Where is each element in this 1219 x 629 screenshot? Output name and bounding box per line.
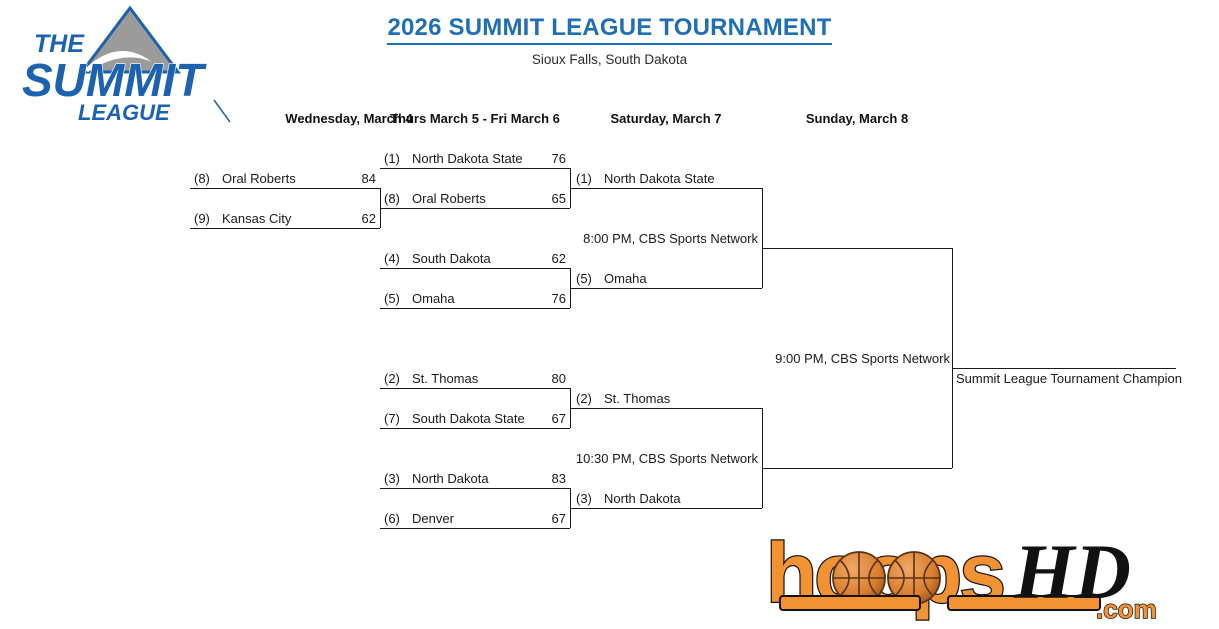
slot-qf2-team2: (5)Omaha: [384, 290, 455, 308]
team-label: Kansas City: [218, 210, 291, 228]
team-label: North Dakota State: [408, 150, 523, 168]
seed-label: (1): [384, 150, 408, 168]
team-label: Oral Roberts: [218, 170, 296, 188]
slot-qf3-team1: (2)St. Thomas: [384, 370, 478, 388]
bracket-line-final-bottom: [762, 468, 952, 469]
page-title: 2026 SUMMIT LEAGUE TOURNAMENT: [0, 14, 1219, 42]
team-label: North Dakota State: [600, 170, 715, 188]
bracket-line-qf4-top: [380, 488, 570, 489]
score-qf3-team2: 67: [520, 410, 566, 428]
round-header-championship: Sunday, March 8: [762, 111, 952, 126]
hoopshd-logo-svg: hoops HD .com: [762, 528, 1182, 624]
team-label: Oral Roberts: [408, 190, 486, 208]
bracket-line-qf1-bottom: [380, 208, 570, 209]
round-header-quarterfinals: Thurs March 5 - Fri March 6: [380, 111, 570, 126]
seed-label: (6): [384, 510, 408, 528]
team-label: Omaha: [408, 290, 455, 308]
seed-label: (3): [384, 470, 408, 488]
seed-label: (5): [576, 270, 600, 288]
bracket-line-r1-bottom: [190, 228, 380, 229]
slot-sf1-team1: (1)North Dakota State: [576, 170, 715, 188]
slot-sf2-team2: (3)North Dakota: [576, 490, 681, 508]
bracket-page: THE SUMMIT LEAGUE 2026 SUMMIT LEAGUE TOU…: [0, 0, 1219, 629]
game-info-semifinal-top: 8:00 PM, CBS Sports Network: [520, 230, 758, 248]
score-qf4-team2: 67: [520, 510, 566, 528]
seed-label: (7): [384, 410, 408, 428]
slot-qf2-team1: (4)South Dakota: [384, 250, 491, 268]
team-label: North Dakota: [408, 470, 489, 488]
seed-label: (9): [194, 210, 218, 228]
bracket-line-sf2-top: [570, 408, 762, 409]
slot-qf1-team1: (1)North Dakota State: [384, 150, 523, 168]
bracket-connector-final: [952, 248, 953, 468]
bracket-line-qf4-bottom: [380, 528, 570, 529]
bracket-line-r1-top: [190, 188, 380, 189]
slot-sf2-team1: (2)St. Thomas: [576, 390, 670, 408]
team-label: St. Thomas: [408, 370, 478, 388]
hoopshd-bar-left: [780, 596, 920, 610]
slot-sf1-team2: (5)Omaha: [576, 270, 647, 288]
game-info-semifinal-bottom: 10:30 PM, CBS Sports Network: [520, 450, 758, 468]
bracket-line-qf3-top: [380, 388, 570, 389]
seed-label: (5): [384, 290, 408, 308]
seed-label: (4): [384, 250, 408, 268]
bracket-line-sf2-bottom: [570, 508, 762, 509]
page-subtitle: Sioux Falls, South Dakota: [0, 52, 1219, 67]
team-label: Denver: [408, 510, 454, 528]
seed-label: (8): [194, 170, 218, 188]
hoopshd-logo: hoops HD .com: [762, 528, 1182, 624]
score-qf4-team1: 83: [520, 470, 566, 488]
slot-qf1-team2: (8)Oral Roberts: [384, 190, 486, 208]
team-label: Omaha: [600, 270, 647, 288]
champion-label: Summit League Tournament Champion: [956, 370, 1182, 388]
bracket-line-qf1-top: [380, 168, 570, 169]
bracket-line-sf1-bottom: [570, 288, 762, 289]
bracket-line-qf2-top: [380, 268, 570, 269]
round-header-semifinals: Saturday, March 7: [570, 111, 762, 126]
bracket-line-qf2-bottom: [380, 308, 570, 309]
game-info-final: 9:00 PM, CBS Sports Network: [712, 350, 950, 368]
logo-league-text: LEAGUE: [78, 100, 171, 124]
score-r1-game1-team1: 84: [330, 170, 376, 188]
slot-qf4-team2: (6)Denver: [384, 510, 454, 528]
score-qf1-team2: 65: [520, 190, 566, 208]
team-label: St. Thomas: [600, 390, 670, 408]
bracket-line-champion: [952, 368, 1176, 369]
score-qf2-team1: 62: [520, 250, 566, 268]
seed-label: (8): [384, 190, 408, 208]
seed-label: (2): [576, 390, 600, 408]
hoopshd-word-com: .com: [1096, 594, 1157, 624]
team-label: South Dakota State: [408, 410, 525, 428]
slot-r1-game1-team1: (8)Oral Roberts: [194, 170, 296, 188]
bracket-connector-sf2: [762, 408, 763, 508]
score-qf2-team2: 76: [520, 290, 566, 308]
score-r1-game1-team2: 62: [330, 210, 376, 228]
bracket-line-final-top: [762, 248, 952, 249]
slot-qf4-team1: (3)North Dakota: [384, 470, 489, 488]
bracket-line-qf3-bottom: [380, 428, 570, 429]
score-qf3-team1: 80: [520, 370, 566, 388]
slot-r1-game1-team2: (9)Kansas City: [194, 210, 291, 228]
team-label: South Dakota: [408, 250, 491, 268]
page-title-text: 2026 SUMMIT LEAGUE TOURNAMENT: [387, 14, 831, 45]
team-label: North Dakota: [600, 490, 681, 508]
slot-qf3-team2: (7)South Dakota State: [384, 410, 525, 428]
bracket-connector-sf1: [762, 188, 763, 288]
seed-label: (2): [384, 370, 408, 388]
bracket-line-sf1-top: [570, 188, 762, 189]
seed-label: (1): [576, 170, 600, 188]
seed-label: (3): [576, 490, 600, 508]
score-qf1-team1: 76: [520, 150, 566, 168]
